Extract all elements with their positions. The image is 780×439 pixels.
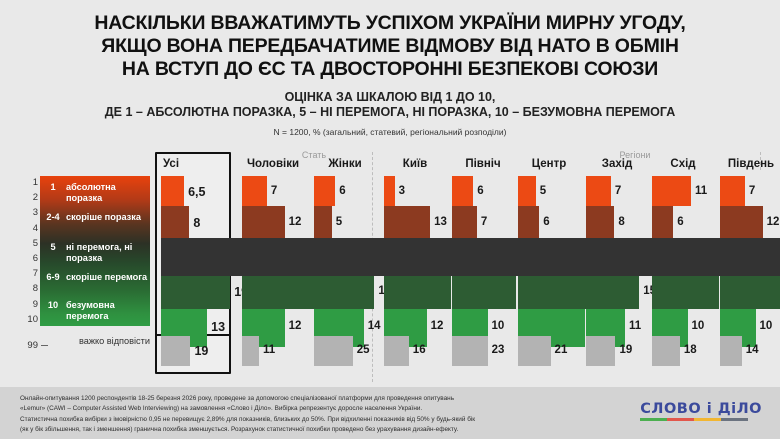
- brand-logo: СЛОВО і ДіЛО: [640, 401, 762, 421]
- column-bars: 712352312: [236, 176, 310, 328]
- bar-rather-defeat[interactable]: [652, 206, 673, 238]
- column-bars: 313371912: [378, 176, 452, 328]
- legend-item-label: абсолютна поразка: [66, 182, 150, 204]
- bar-value-hard-to-answer: 25: [357, 345, 370, 357]
- title-line-1: НАСКІЛЬКИ ВВАЖАТИМУТЬ УСПІХОМ УКРАЇНИ МИ…: [18, 12, 762, 35]
- bar-value-unconditional-victory: 10: [492, 321, 505, 333]
- bar-value-hard-to-answer: 16: [413, 345, 426, 357]
- bar-value-absolute-defeat: 11: [695, 186, 707, 198]
- legend-item-key: 10: [42, 300, 64, 311]
- bar-value-absolute-defeat: 3: [399, 186, 405, 198]
- bar-value-absolute-defeat: 7: [749, 186, 755, 198]
- bar-value-rather-defeat: 7: [481, 217, 487, 229]
- bar-value-rather-defeat: 6: [543, 217, 549, 229]
- bar-row-hard-to-answer: 25: [308, 336, 382, 370]
- legend-item-key: 5: [42, 242, 64, 253]
- bar-row-hard-to-answer: 18: [646, 336, 720, 370]
- column-bars: 712342310: [714, 176, 780, 328]
- bar-row-hard-to-answer: 19: [580, 336, 654, 370]
- bar-hard-to-answer[interactable]: [586, 336, 615, 366]
- bar-neither[interactable]: [720, 238, 780, 276]
- legend-item-key: 1: [42, 182, 64, 193]
- bar-value-absolute-defeat: 5: [540, 186, 546, 198]
- bar-value-rather-defeat: 12: [289, 217, 302, 229]
- bar-value-absolute-defeat: 6,5: [188, 186, 205, 199]
- bar-value-hard-to-answer: 19: [194, 345, 208, 358]
- bar-row-hard-to-answer: 16: [378, 336, 452, 370]
- column-label: Усі: [155, 158, 229, 170]
- column-bars: 6,583419,513: [155, 176, 229, 328]
- bar-rather-victory[interactable]: [652, 276, 719, 309]
- page-subtitle: ОЦІНКА ЗА ШКАЛОЮ ВІД 1 ДО 10, ДЕ 1 – АБС…: [18, 90, 762, 121]
- column-bars: 116361910: [646, 176, 720, 328]
- bar-value-unconditional-victory: 12: [289, 321, 302, 333]
- methodology-note: Онлайн-опитування 1200 респондентів 18-2…: [20, 394, 610, 436]
- bar-absolute-defeat[interactable]: [720, 176, 745, 206]
- bar-rather-defeat[interactable]: [242, 206, 285, 238]
- bar-absolute-defeat[interactable]: [242, 176, 267, 206]
- bar-value-rather-defeat: 6: [677, 217, 683, 229]
- column-bars: 78401511: [580, 176, 654, 328]
- column-label: Південь: [714, 158, 780, 170]
- bar-rather-victory[interactable]: [452, 276, 516, 309]
- sample-size-note: N = 1200, % (загальний, статевий, регіон…: [18, 127, 762, 137]
- column-label: Північ: [446, 158, 520, 170]
- bar-value-hard-to-answer: 18: [684, 345, 697, 357]
- bar-rather-defeat[interactable]: [314, 206, 332, 238]
- legend-hard-to-answer: важко відповісти: [40, 336, 150, 346]
- bar-value-unconditional-victory: 10: [692, 321, 705, 333]
- bar-value-absolute-defeat: 7: [271, 186, 277, 198]
- bar-row-hard-to-answer: 21: [512, 336, 586, 370]
- bar-hard-to-answer[interactable]: [314, 336, 353, 366]
- legend-gradient: 1абсолютна поразка2-4скоріше поразка5ні …: [40, 176, 150, 326]
- bar-absolute-defeat[interactable]: [452, 176, 473, 206]
- column-bars: 65331714: [308, 176, 382, 328]
- bar-value-unconditional-victory: 13: [211, 321, 225, 334]
- bar-absolute-defeat[interactable]: [314, 176, 335, 206]
- legend-item-label: скоріше поразка: [66, 212, 150, 223]
- methodology-line-3: Статистична похибка вибірки з імовірніст…: [20, 415, 610, 425]
- bar-rather-victory[interactable]: [384, 276, 451, 309]
- methodology-line-2: «Lemur» (CAWI – Computer Assisted Web In…: [20, 404, 610, 414]
- bar-row-hard-to-answer: 11: [236, 336, 310, 370]
- column-bars: 67361810: [446, 176, 520, 328]
- column-label: Захід: [580, 158, 654, 170]
- bar-value-absolute-defeat: 7: [615, 186, 621, 198]
- subtitle-line-2: ДЕ 1 – АБСОЛЮТНА ПОРАЗКА, 5 – НІ ПЕРЕМОГ…: [18, 105, 762, 120]
- bar-row-hard-to-answer: 23: [446, 336, 520, 370]
- bar-hard-to-answer[interactable]: [161, 336, 190, 366]
- methodology-line-4: (як у бік збільшення, так і зменшення) г…: [20, 425, 610, 435]
- bar-value-unconditional-victory: 11: [629, 321, 641, 333]
- bar-rather-defeat[interactable]: [720, 206, 763, 238]
- bar-hard-to-answer[interactable]: [720, 336, 742, 366]
- logo-stripe-2: [667, 418, 694, 421]
- bar-value-absolute-defeat: 6: [339, 186, 345, 198]
- bar-row-hard-to-answer: 19: [155, 336, 229, 370]
- legend-item-key: 6-9: [42, 272, 64, 283]
- logo-stripe-4: [721, 418, 748, 421]
- footer: Онлайн-опитування 1200 респондентів 18-2…: [0, 387, 780, 439]
- bar-value-absolute-defeat: 6: [477, 186, 483, 198]
- bar-rather-victory[interactable]: [314, 276, 374, 309]
- legend-item-label: безумовна перемога: [66, 300, 150, 322]
- logo-stripe-3: [694, 418, 721, 421]
- bar-value-unconditional-victory: 12: [431, 321, 444, 333]
- bar-value-unconditional-victory: 10: [760, 321, 773, 333]
- bar-value-hard-to-answer: 14: [746, 345, 759, 357]
- bar-rather-defeat[interactable]: [452, 206, 477, 238]
- column-label: Чоловіки: [236, 158, 310, 170]
- bar-rather-victory[interactable]: [161, 276, 230, 309]
- bar-hard-to-answer[interactable]: [518, 336, 551, 366]
- bar-rather-victory[interactable]: [586, 276, 639, 309]
- legend-item-key: 2-4: [42, 212, 64, 223]
- bar-value-hard-to-answer: 23: [492, 345, 505, 357]
- bar-value-rather-defeat: 8: [618, 217, 624, 229]
- bar-rather-defeat[interactable]: [161, 206, 189, 238]
- header: НАСКІЛЬКИ ВВАЖАТИМУТЬ УСПІХОМ УКРАЇНИ МИ…: [0, 0, 780, 137]
- bar-hard-to-answer[interactable]: [652, 336, 680, 366]
- logo-stripe-1: [640, 418, 667, 421]
- bar-absolute-defeat[interactable]: [384, 176, 395, 206]
- column-label: Схід: [646, 158, 720, 170]
- column-bars: 56272219: [512, 176, 586, 328]
- bar-absolute-defeat[interactable]: [586, 176, 611, 206]
- bar-value-hard-to-answer: 21: [555, 345, 568, 357]
- bar-value-hard-to-answer: 11: [263, 345, 275, 357]
- bar-value-rather-defeat: 5: [336, 217, 342, 229]
- methodology-line-1: Онлайн-опитування 1200 респондентів 18-2…: [20, 394, 610, 404]
- bar-row-hard-to-answer: 14: [714, 336, 780, 370]
- bar-absolute-defeat[interactable]: [161, 176, 184, 206]
- legend-item-label: скоріше перемога: [66, 272, 150, 283]
- bar-absolute-defeat[interactable]: [518, 176, 536, 206]
- bar-value-rather-defeat: 12: [767, 217, 780, 229]
- bar-value-rather-defeat: 8: [193, 217, 200, 230]
- brand-logo-text: СЛОВО і ДіЛО: [640, 401, 762, 417]
- title-line-3: НА ВСТУП ДО ЄС ТА ДВОСТОРОННІ БЕЗПЕКОВІ …: [18, 58, 762, 81]
- bar-rather-defeat[interactable]: [586, 206, 614, 238]
- subtitle-line-1: ОЦІНКА ЗА ШКАЛОЮ ВІД 1 ДО 10,: [18, 90, 762, 105]
- chart-area: Стать Регіони 1234567891099 1абсолютна п…: [0, 150, 780, 388]
- column-label: Жінки: [308, 158, 382, 170]
- column-label: Центр: [512, 158, 586, 170]
- title-line-2: ЯКЩО ВОНА ПЕРЕДБАЧАТИМЕ ВІДМОВУ ВІД НАТО…: [18, 35, 762, 58]
- legend-item-label: ні перемога, ні поразка: [66, 242, 150, 264]
- bar-rather-defeat[interactable]: [518, 206, 539, 238]
- column-label: Київ: [378, 158, 452, 170]
- bar-rather-defeat[interactable]: [384, 206, 430, 238]
- page-title: НАСКІЛЬКИ ВВАЖАТИМУТЬ УСПІХОМ УКРАЇНИ МИ…: [18, 12, 762, 81]
- bar-hard-to-answer[interactable]: [242, 336, 259, 366]
- bar-absolute-defeat[interactable]: [652, 176, 691, 206]
- bar-hard-to-answer[interactable]: [452, 336, 488, 366]
- brand-logo-stripes: [640, 418, 748, 421]
- bar-hard-to-answer[interactable]: [384, 336, 409, 366]
- bar-rather-victory[interactable]: [720, 276, 780, 309]
- bar-value-hard-to-answer: 19: [619, 345, 632, 357]
